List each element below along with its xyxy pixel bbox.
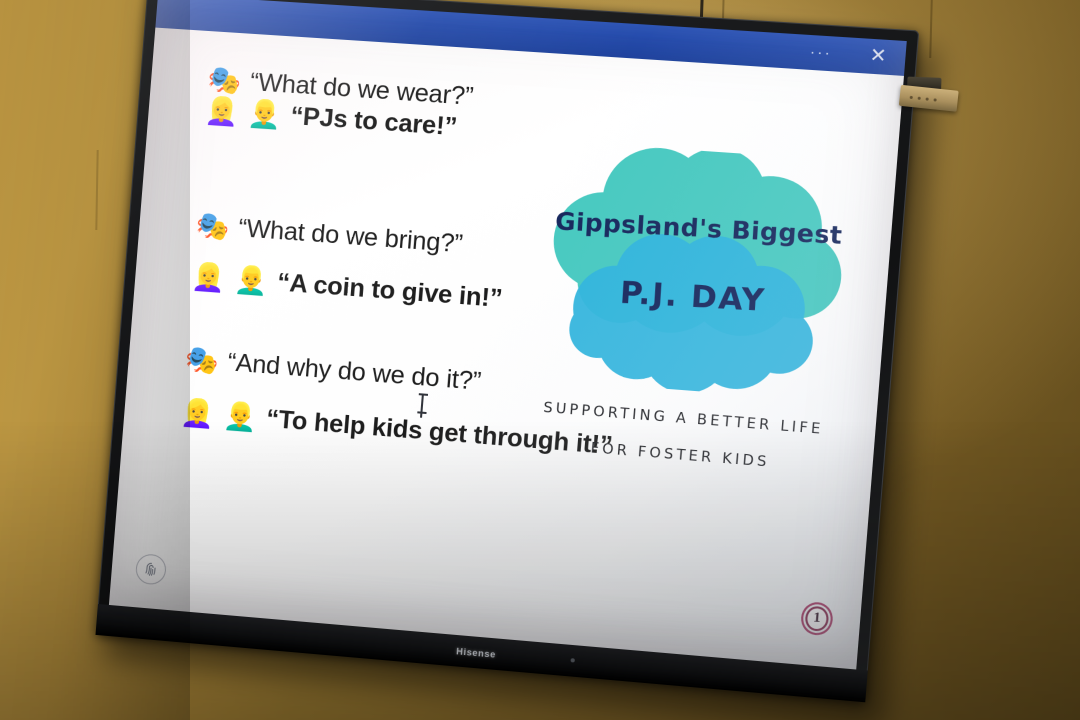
pj-day-logo: Gippsland's Biggest P.J. DAY SUPPORTING … bbox=[523, 141, 861, 487]
puppet-show-emoji: 🎭 bbox=[206, 66, 242, 95]
call-response-block: 🎭 “What do we wear?” 👱‍♀️ 👱‍♂️ “PJs to c… bbox=[204, 65, 616, 153]
fingerprint-icon[interactable] bbox=[135, 553, 167, 586]
blonde-boy-emoji: 👱‍♂️ bbox=[233, 266, 269, 296]
ir-receiver-dot bbox=[570, 658, 574, 662]
close-icon[interactable]: ✕ bbox=[860, 44, 895, 69]
question-text: “What do we bring?” bbox=[237, 214, 463, 259]
page-number-value: 1 bbox=[813, 610, 822, 627]
puppet-show-emoji: 🎭 bbox=[184, 346, 220, 376]
device-brand-label: Hisense bbox=[456, 646, 496, 660]
answer-text: “A coin to give in!” bbox=[276, 268, 503, 314]
kids-emoji-pair: 👱‍♀️ 👱‍♂️ bbox=[204, 97, 283, 129]
wall-panel-seam bbox=[95, 150, 98, 230]
kids-emoji-pair: 👱‍♀️ 👱‍♂️ bbox=[180, 399, 259, 432]
fingerprint-glyph bbox=[142, 561, 159, 578]
display-bezel: ··· ✕ 🎭 “What do we wear?” bbox=[95, 0, 919, 702]
question-text: “And why do we do it?” bbox=[226, 348, 482, 397]
blonde-girl-emoji: 👱‍♀️ bbox=[191, 263, 227, 292]
blonde-boy-emoji: 👱‍♂️ bbox=[247, 100, 283, 129]
page-number-badge[interactable]: 1 bbox=[800, 601, 834, 636]
wall-mount-bracket bbox=[898, 69, 965, 123]
presentation-window: ··· ✕ 🎭 “What do we wear?” bbox=[109, 0, 907, 670]
blonde-girl-emoji: 👱‍♀️ bbox=[180, 399, 216, 429]
blonde-boy-emoji: 👱‍♂️ bbox=[222, 402, 258, 432]
mouse-text-cursor bbox=[417, 393, 428, 414]
wall-mounted-display: ··· ✕ 🎭 “What do we wear?” bbox=[93, 0, 928, 720]
room-scene: ··· ✕ 🎭 “What do we wear?” bbox=[0, 0, 1080, 720]
puppet-show-emoji: 🎭 bbox=[195, 212, 231, 241]
kids-emoji-pair: 👱‍♀️ 👱‍♂️ bbox=[191, 263, 270, 296]
cloud-svg bbox=[530, 141, 861, 403]
blonde-girl-emoji: 👱‍♀️ bbox=[204, 97, 240, 126]
more-options-icon[interactable]: ··· bbox=[803, 43, 839, 64]
cloud-graphic: Gippsland's Biggest P.J. DAY bbox=[530, 141, 861, 403]
slide-canvas[interactable]: 🎭 “What do we wear?” 👱‍♀️ 👱‍♂️ “PJs to c… bbox=[109, 28, 904, 670]
display-screen: ··· ✕ 🎭 “What do we wear?” bbox=[109, 0, 907, 670]
